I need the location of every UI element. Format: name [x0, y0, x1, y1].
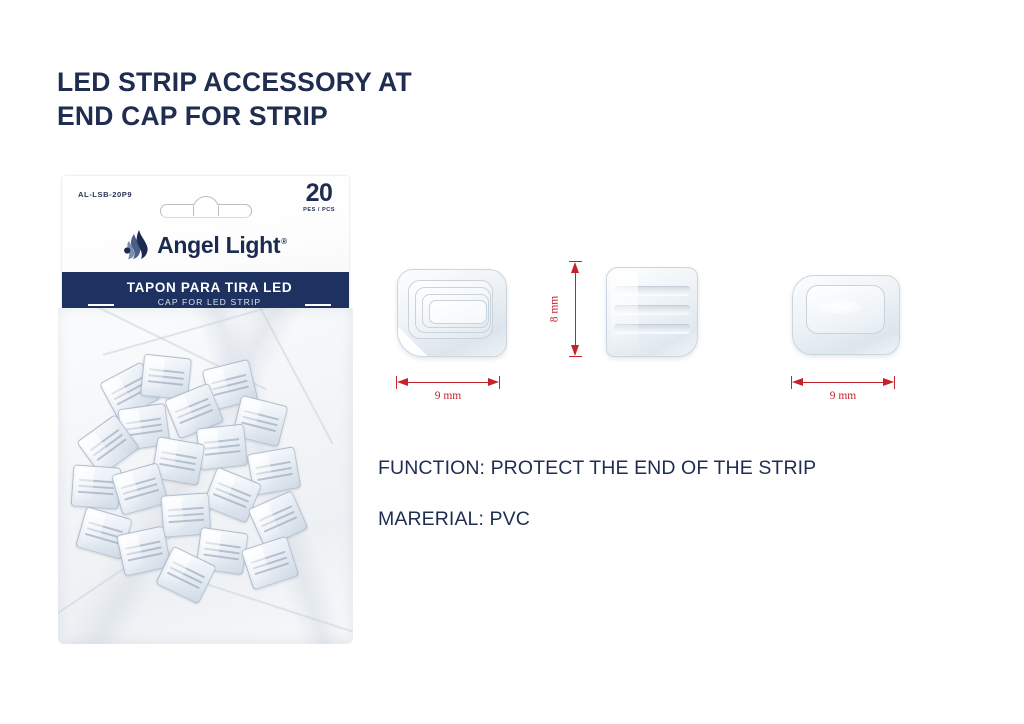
angel-light-flame-icon [124, 230, 150, 260]
banner-title-english: CAP FOR LED STRIP [158, 296, 262, 308]
dimension-width-right-label: 9 mm [791, 390, 895, 402]
end-cap-open-view [389, 253, 517, 371]
brand-logo: Angel Light® [62, 230, 349, 260]
title-line-2: END CAP FOR STRIP [57, 99, 577, 133]
euro-hang-hole-icon [160, 196, 252, 218]
spec-material: MARERIAL: PVC [378, 508, 530, 531]
dimension-width-right: 9 mm [791, 375, 895, 409]
cap-item [241, 536, 300, 591]
dimension-height-label: 8 mm [548, 296, 560, 323]
page-title: LED STRIP ACCESSORY AT END CAP FOR STRIP [57, 65, 577, 133]
product-spec-slide: LED STRIP ACCESSORY AT END CAP FOR STRIP… [0, 0, 1024, 724]
dimension-width-left: 9 mm [396, 375, 500, 409]
end-cap-closed-view [786, 265, 908, 369]
title-line-1: LED STRIP ACCESSORY AT [57, 65, 577, 99]
banner-dash-left [88, 304, 114, 307]
package-quantity-number: 20 [303, 181, 335, 206]
registered-mark: ® [281, 237, 287, 246]
poly-bag [58, 308, 353, 644]
package-quantity-unit: PES / PCS [303, 207, 335, 213]
package-sku-code: AL-LSB-20P9 [78, 190, 132, 199]
dimension-width-left-label: 9 mm [396, 390, 500, 402]
brand-name: Angel Light® [157, 232, 287, 259]
banner-dash-right [305, 304, 331, 307]
package-header-card: AL-LSB-20P9 20 PES / PCS Angel Light® [62, 176, 349, 316]
dimension-height: 8 mm [545, 261, 585, 357]
spec-function: FUNCTION: PROTECT THE END OF THE STRIP [378, 457, 816, 480]
end-cap-pile [58, 308, 353, 644]
product-package-photo: AL-LSB-20P9 20 PES / PCS Angel Light® [58, 176, 353, 644]
end-cap-ribbed-view [596, 253, 708, 371]
banner-title-spanish: TAPON PARA TIRA LED [127, 280, 293, 295]
package-quantity-badge: 20 PES / PCS [303, 181, 335, 213]
